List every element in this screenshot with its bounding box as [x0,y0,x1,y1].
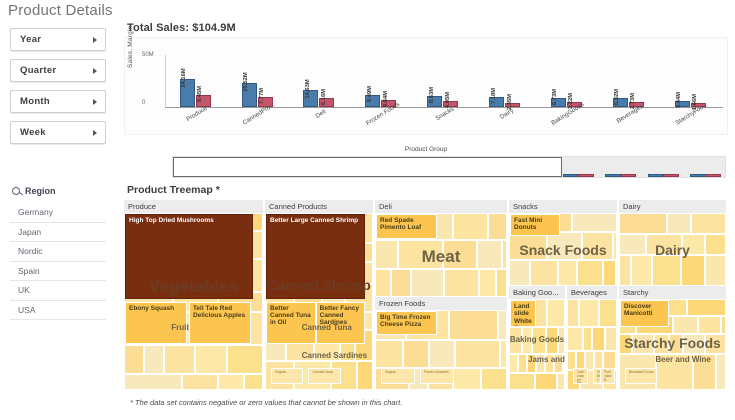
treemap-cell-label: Tell Tale Red Delicious Apples [190,303,250,320]
navigator-bar [690,174,706,177]
treemap-cell[interactable] [453,213,488,240]
chart-footnote: * The data set contains negative or zero… [130,398,402,407]
bar-value-label: 6.73M [552,89,558,105]
treemap-cell-labeled[interactable]: Better Large Canned Shrimp [266,214,365,299]
treemap-group-header: Frozen Foods [375,297,509,310]
treemap-cell[interactable] [619,334,632,354]
treemap-cell[interactable] [576,351,585,370]
treemap-cell[interactable] [218,374,244,390]
treemap-cell[interactable] [536,354,545,373]
treemap-cell[interactable] [403,340,429,369]
treemap-cell-label: Big Time Frozen Cheese Pizza [377,312,436,329]
treemap-cell-small[interactable]: Carbonated Be... [573,368,588,384]
treemap-group[interactable]: Frozen FoodsBig Time Frozen Cheese Pizza… [375,297,509,390]
bar-value-label: 3.44M [676,92,682,108]
treemap-cell[interactable] [705,255,726,286]
treemap-cell[interactable] [477,240,502,269]
treemap-cell[interactable] [716,354,726,390]
treemap-group-body: Red Spade Pimento LoafMeat [375,213,509,297]
treemap-cell[interactable] [594,351,603,370]
treemap-cell-small[interactable]: Vegeta... [381,368,415,384]
chevron-right-icon [93,68,97,74]
filter-label: Week [11,127,46,138]
sales-bar-chart[interactable]: Sales, Margin 50M 0 24.16M9.45MProduce20… [124,37,728,135]
treemap-cell-label: Ebony Squash [126,303,186,312]
treemap-cell-labeled[interactable]: Tell Tale Red Delicious Apples [189,302,251,344]
treemap-cell[interactable] [488,213,507,240]
navigator-selection-handle[interactable] [173,157,562,177]
treemap-cell[interactable] [195,345,227,374]
treemap-cell[interactable] [252,259,263,291]
treemap-cell-label: Canned Soup [309,369,339,375]
treemap-cell-label: Discover Manicotti [621,301,668,318]
x-axis-label: Deli [314,108,327,120]
treemap-cell[interactable] [509,232,547,260]
treemap-cell[interactable] [698,316,721,334]
treemap-title: Product Treemap * [127,184,220,196]
bar-group[interactable]: 3.44M1.66MStarchyFoo... [675,101,706,107]
treemap-cell[interactable] [605,327,617,350]
treemap-cell[interactable] [652,255,681,286]
treemap-cell[interactable] [398,240,443,269]
treemap-cell[interactable] [681,255,704,286]
filter-button-quarter[interactable]: Quarter [10,59,106,82]
treemap-group-body: Landslide White SugarJams and JelliesBak… [509,299,567,390]
treemap-cell[interactable] [667,213,692,234]
treemap-cell[interactable] [509,354,518,373]
bar-group[interactable]: 7.18M2.35MDairy [489,97,520,107]
treemap-cell[interactable] [502,240,507,269]
treemap-cell[interactable] [357,361,373,390]
chevron-right-icon [93,130,97,136]
treemap-cell[interactable] [546,327,557,354]
treemap-cell-labeled[interactable]: Better Fancy Canned Sardines [316,302,366,344]
treemap-cell[interactable] [592,327,605,350]
bar-value-label: 24.16M [181,69,187,88]
treemap-cell-label: Breakfast Foods [626,369,656,375]
treemap-cell[interactable] [124,374,182,390]
treemap-cell[interactable] [429,340,455,369]
product-treemap[interactable]: ProduceHigh Top Dried MushroomsEbony Squ… [124,200,728,390]
treemap-group-header: Beverages [567,286,619,299]
treemap-group[interactable]: StarchyDiscover ManicottiBreakfast Foods… [619,286,728,390]
treemap-cell[interactable] [599,299,617,327]
treemap-group-body: Better Large Canned ShrimpBetter Canned … [265,213,375,390]
navigator-bar [605,174,621,177]
treemap-cell-labeled[interactable]: Discover Manicotti [620,300,669,327]
treemap-group-header: Snacks [509,200,619,213]
treemap-cell[interactable] [375,240,398,269]
treemap-cell[interactable] [585,351,594,370]
bar-value-label: 20.52M [243,73,249,92]
treemap-group[interactable]: Canned ProductsBetter Large Canned Shrim… [265,200,375,390]
treemap-cell-label: Landslide White Sugar [511,301,535,327]
navigator-bar [663,174,679,177]
treemap-group[interactable]: ProduceHigh Top Dried MushroomsEbony Squ… [124,200,265,390]
treemap-cell[interactable] [453,368,481,390]
x-axis-label: Dairy [498,107,514,121]
treemap-cell-label: Pure Juice B... [601,369,614,382]
treemap-cell-label: Better Fancy Canned Sardines [317,303,365,327]
treemap-cell-labeled[interactable]: Ebony Squash [125,302,187,344]
treemap-cell[interactable] [164,345,195,374]
treemap-cell[interactable] [496,269,507,297]
y-tick-bottom: 0 [142,100,145,106]
treemap-cell[interactable] [532,327,547,354]
y-tick-top: 50M [142,52,154,58]
treemap-group-body: Fast Mini DonutsSnack Foods [509,213,619,286]
treemap-cell[interactable] [182,374,218,390]
treemap-cell[interactable] [498,310,507,340]
treemap-cell[interactable] [619,213,667,234]
filter-button-group: Year Quarter Month Week [10,28,106,152]
treemap-cell[interactable] [603,351,616,370]
navigator-track[interactable] [172,156,726,178]
treemap-cell[interactable] [244,374,263,390]
bar-group[interactable]: 24.16M9.45MProduce [180,79,211,107]
bar-sales[interactable]: 6.32M [613,98,628,107]
region-header[interactable]: Region [10,183,106,199]
region-item-usa[interactable]: USA [10,301,106,321]
search-icon[interactable] [12,187,20,195]
treemap-cell[interactable] [547,232,582,260]
bar-sales[interactable]: 24.16M [180,79,195,107]
bar-group[interactable]: 6.32M2.73MBeverages [613,98,644,107]
treemap-cell[interactable] [567,327,583,350]
treemap-cell[interactable] [518,354,527,373]
treemap-cell[interactable] [721,316,726,334]
treemap-cell[interactable] [411,269,444,297]
treemap-group-header: Dairy [619,200,728,213]
bar-group[interactable]: 6.73M3.22MBakingGoods [551,98,582,107]
x-axis-label: Produce [185,105,208,123]
treemap-cell[interactable] [144,345,165,374]
x-axis-label: Snacks [434,106,455,123]
treemap-cell-label: Frozen Desserts [421,369,453,375]
total-sales-card: Total Sales: $104.9M Sales, Margin 50M 0… [124,22,728,137]
filter-button-year[interactable]: Year [10,28,106,51]
navigator-bar [705,174,721,177]
bar-value-label: 9.45M [197,86,203,102]
treemap-cell[interactable] [522,327,531,354]
treemap-cell[interactable] [673,316,698,334]
treemap-cell[interactable] [646,234,682,255]
treemap-cell[interactable] [375,269,391,297]
navigator-bar [578,174,594,177]
treemap-cell[interactable] [705,334,726,354]
bar-value-label: 4.64M [383,91,389,107]
treemap-cell[interactable] [705,234,726,255]
treemap-cell[interactable] [613,232,617,260]
bar-sales[interactable]: 7.18M [489,97,504,107]
bar-sales[interactable]: 3.44M [675,101,690,107]
plot-area: 24.16M9.45MProduce20.52M7.77MCannedPro..… [165,55,723,108]
treemap-cell[interactable] [547,299,565,327]
treemap-cell[interactable] [691,213,726,234]
treemap-cell-label: High Top Dried Mushrooms [126,215,252,224]
treemap-cell[interactable] [545,354,554,373]
treemap-group[interactable]: DairyDairy [619,200,728,286]
treemap-cell[interactable] [509,260,530,286]
bar-margin[interactable]: 6.16M [319,98,334,107]
bar-group[interactable]: 14.63M6.16MDeli [303,90,334,108]
region-item-japan[interactable]: Japan [10,223,106,243]
treemap-group[interactable]: SnacksFast Mini DonutsSnack Foods [509,200,619,286]
treemap-cell-labeled[interactable]: Landslide White Sugar [510,300,536,327]
bar-value-label: 14.63M [305,79,311,98]
treemap-cell[interactable] [579,299,599,327]
navigator-bar [621,174,637,177]
treemap-cell-labeled[interactable]: Fast Mini Donuts [510,214,560,236]
treemap-group-body: High Top Dried MushroomsEbony SquashTell… [124,213,265,390]
treemap-cell[interactable] [583,327,592,350]
filter-label: Month [11,96,50,107]
treemap-group-body: Carbonated Be...Hot Bever...DrinksPure J… [567,299,619,390]
treemap-cell-labeled[interactable]: High Top Dried Mushrooms [125,214,253,299]
treemap-group-body: Discover ManicottiBreakfast FoodsBeer an… [619,299,728,390]
treemap-cell[interactable] [682,234,705,255]
treemap-cell-small[interactable]: Pure Juice B... [600,368,615,384]
chevron-right-icon [93,37,97,43]
navigator-bar [648,174,664,177]
treemap-cell[interactable] [554,354,563,373]
treemap-cell-label: Carbonated Be... [574,369,587,384]
product-details-page: Product Details Year Quarter Month Week … [0,0,735,420]
bar-group[interactable]: 8.63M4.05MSnacks [427,96,458,107]
region-item-spain[interactable]: Spain [10,262,106,282]
total-sales-title: Total Sales: $104.9M [127,22,728,34]
bar-value-label: 9.49M [367,86,373,102]
treemap-cell-label: Better Canned Tuna in Oil [267,303,315,327]
treemap-cell[interactable] [530,260,557,286]
treemap-cell[interactable] [683,334,705,354]
bar-sales[interactable]: 8.63M [427,96,442,107]
treemap-cell-label: Fast Mini Donuts [511,215,559,232]
treemap-group-header: Deli [375,200,509,213]
treemap-cell[interactable] [455,340,499,369]
navigator-bar [563,174,579,177]
treemap-cell[interactable] [619,255,631,286]
treemap-cell[interactable] [558,327,565,354]
treemap-cell-small[interactable]: Frozen Desserts [420,368,454,384]
treemap-cell-labeled[interactable]: Big Time Frozen Cheese Pizza [376,311,437,335]
treemap-cell[interactable] [535,373,557,390]
treemap-cell[interactable] [444,269,479,297]
treemap-group[interactable]: DeliRed Spade Pimento LoafMeat [375,200,509,297]
treemap-cell[interactable] [391,269,410,297]
treemap-cell[interactable] [481,368,507,390]
treemap-group[interactable]: Baking Goo...Landslide White SugarJams a… [509,286,567,390]
treemap-cell[interactable] [687,299,726,316]
treemap-cell[interactable] [227,345,263,374]
navigator-label: Product Group [405,146,447,153]
treemap-cell[interactable] [509,327,522,354]
bar-value-label: 7.77M [259,88,265,104]
treemap-group-body: Dairy [619,213,728,286]
bar-sales[interactable]: 9.49M [365,95,380,107]
treemap-cell[interactable] [572,213,617,232]
bar-sales[interactable]: 6.73M [551,98,566,107]
treemap-group-header: Produce [124,200,265,213]
treemap-group-header: Canned Products [265,200,375,213]
treemap-cell-label: Better Large Canned Shrimp [267,215,364,224]
filter-label: Quarter [11,65,56,76]
treemap-cell[interactable] [577,260,603,286]
treemap-cell[interactable] [557,373,565,390]
treemap-cell[interactable] [509,373,535,390]
treemap-group-body: Big Time Frozen Cheese PizzaVegeta...Fro… [375,310,509,390]
y-axis-title: Sales, Margin [127,26,134,68]
bar-margin[interactable]: 2.35M [505,103,520,107]
filter-button-month[interactable]: Month [10,90,106,113]
bar-value-label: 6.32M [614,89,620,105]
treemap-group-header: Baking Goo... [509,286,567,299]
treemap-cell[interactable] [603,260,616,286]
treemap-cell[interactable] [500,340,507,369]
region-item-germany[interactable]: Germany [10,203,106,223]
filter-button-week[interactable]: Week [10,121,106,144]
treemap-cell[interactable] [558,260,578,286]
treemap-cell[interactable] [375,340,403,369]
bar-value-label: 7.18M [491,88,497,104]
treemap-cell[interactable] [632,334,654,354]
treemap-cell-label: Red Spade Pimento Loaf [377,215,436,232]
treemap-cell[interactable] [567,299,579,327]
treemap-cell[interactable] [527,354,536,373]
treemap-cell-label: Vegeta... [382,369,414,375]
chevron-right-icon [93,99,97,105]
treemap-cell[interactable] [669,334,683,354]
treemap-cell-label: Vegeta... [272,369,302,375]
treemap-cell[interactable] [631,255,652,286]
treemap-cell[interactable] [654,334,669,354]
treemap-cell[interactable] [582,232,613,260]
region-filter-panel: Region Germany Japan Nordic Spain UK USA [10,183,106,320]
treemap-cell[interactable] [479,269,496,297]
bar-group[interactable]: 9.49M4.64MFrozen Foods [365,95,396,107]
treemap-cell-small[interactable]: Canned Soup [308,368,340,384]
treemap-group-header: Starchy [619,286,728,299]
bar-sales[interactable]: 20.52M [242,83,257,107]
bar-value-label: 8.63M [429,87,435,103]
treemap-cell-small[interactable]: Breakfast Foods [625,368,657,384]
treemap-cell-labeled[interactable]: Better Canned Tuna in Oil [266,302,316,344]
treemap-cell[interactable] [656,354,693,390]
treemap-cell[interactable] [449,310,498,340]
bar-group[interactable]: 20.52M7.77MCannedPro... [242,83,273,107]
treemap-cell[interactable] [443,240,477,269]
bar-sales[interactable]: 14.63M [303,90,318,108]
region-item-uk[interactable]: UK [10,281,106,301]
region-item-nordic[interactable]: Nordic [10,242,106,262]
page-title: Product Details [8,2,113,19]
filter-label: Year [11,34,41,45]
bar-value-label: 6.16M [321,89,327,105]
treemap-cell-small[interactable]: Vegeta... [271,368,303,384]
treemap-cell-labeled[interactable]: Red Spade Pimento Loaf [376,214,437,239]
treemap-cell[interactable] [693,354,716,390]
chart-navigator[interactable]: Product Group [124,146,728,180]
region-title: Region [25,186,56,196]
treemap-cell[interactable] [619,234,646,255]
treemap-cell[interactable] [124,345,144,374]
treemap-group[interactable]: BeveragesCarbonated Be...Hot Bever...Dri… [567,286,619,390]
treemap-cell[interactable] [567,351,576,370]
